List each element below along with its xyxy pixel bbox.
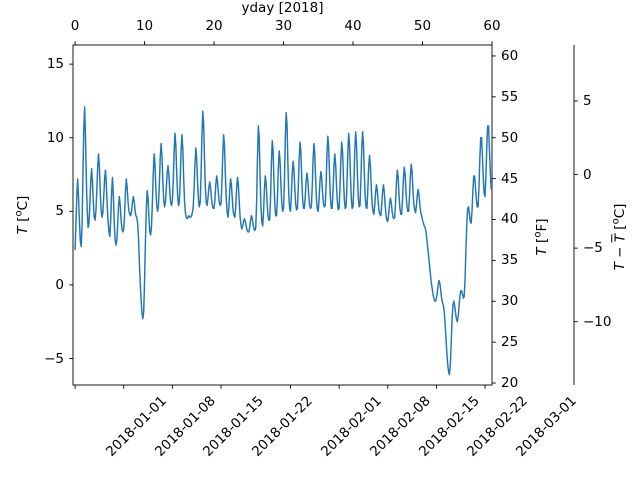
third-axis-label: T − T [oC] xyxy=(610,204,628,271)
right-axis-label: T [oF] xyxy=(532,219,550,256)
figure-canvas: 01020304050602018-01-012018-01-082018-01… xyxy=(0,0,640,480)
left-axis-label: T [oC] xyxy=(13,196,31,235)
temperature-line xyxy=(75,61,640,375)
top-axis-label: yday [2018] xyxy=(241,0,323,16)
